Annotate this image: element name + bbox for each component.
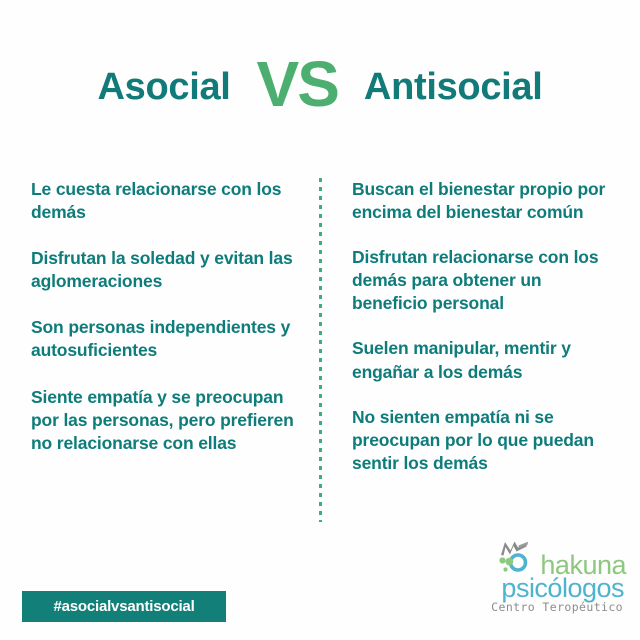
comparison-columns: Le cuesta relacionarse con los demás Dis… [0, 178, 640, 526]
header: Asocial VS Antisocial [0, 56, 640, 118]
column-asocial: Le cuesta relacionarse con los demás Dis… [31, 178, 299, 455]
page-title-left: Asocial [97, 68, 230, 106]
page-title-right: Antisocial [364, 68, 543, 106]
trait-item: Le cuesta relacionarse con los demás [31, 178, 299, 224]
hashtag-label: #asocialvsantisocial [53, 599, 194, 614]
trait-item: Disfrutan la soledad y evitan las aglome… [31, 247, 299, 293]
trait-item: Son personas independientes y autosufici… [31, 316, 299, 362]
trait-item: Suelen manipular, mentir y engañar a los… [352, 337, 614, 383]
hashtag-badge: #asocialvsantisocial [22, 591, 226, 622]
vs-label: VS [257, 52, 338, 116]
trait-item: Buscan el bienestar propio por encima de… [352, 178, 614, 224]
trait-item: No sienten empatía ni se preocupan por l… [352, 406, 614, 475]
trait-item: Disfrutan relacionarse con los demás par… [352, 246, 614, 315]
hakuna-swoosh-dots-icon [496, 538, 536, 578]
trait-item: Siente empatía y se preocupan por las pe… [31, 386, 299, 455]
column-antisocial: Buscan el bienestar propio por encima de… [352, 178, 614, 475]
logo-word-psicologos: psicólogos [444, 575, 624, 602]
brand-logo: hakuna psicólogos Centro Teropéutico [446, 538, 626, 624]
logo-tagline: Centro Teropéutico [443, 602, 623, 614]
infographic-canvas: Asocial VS Antisocial Le cuesta relacion… [0, 0, 640, 640]
